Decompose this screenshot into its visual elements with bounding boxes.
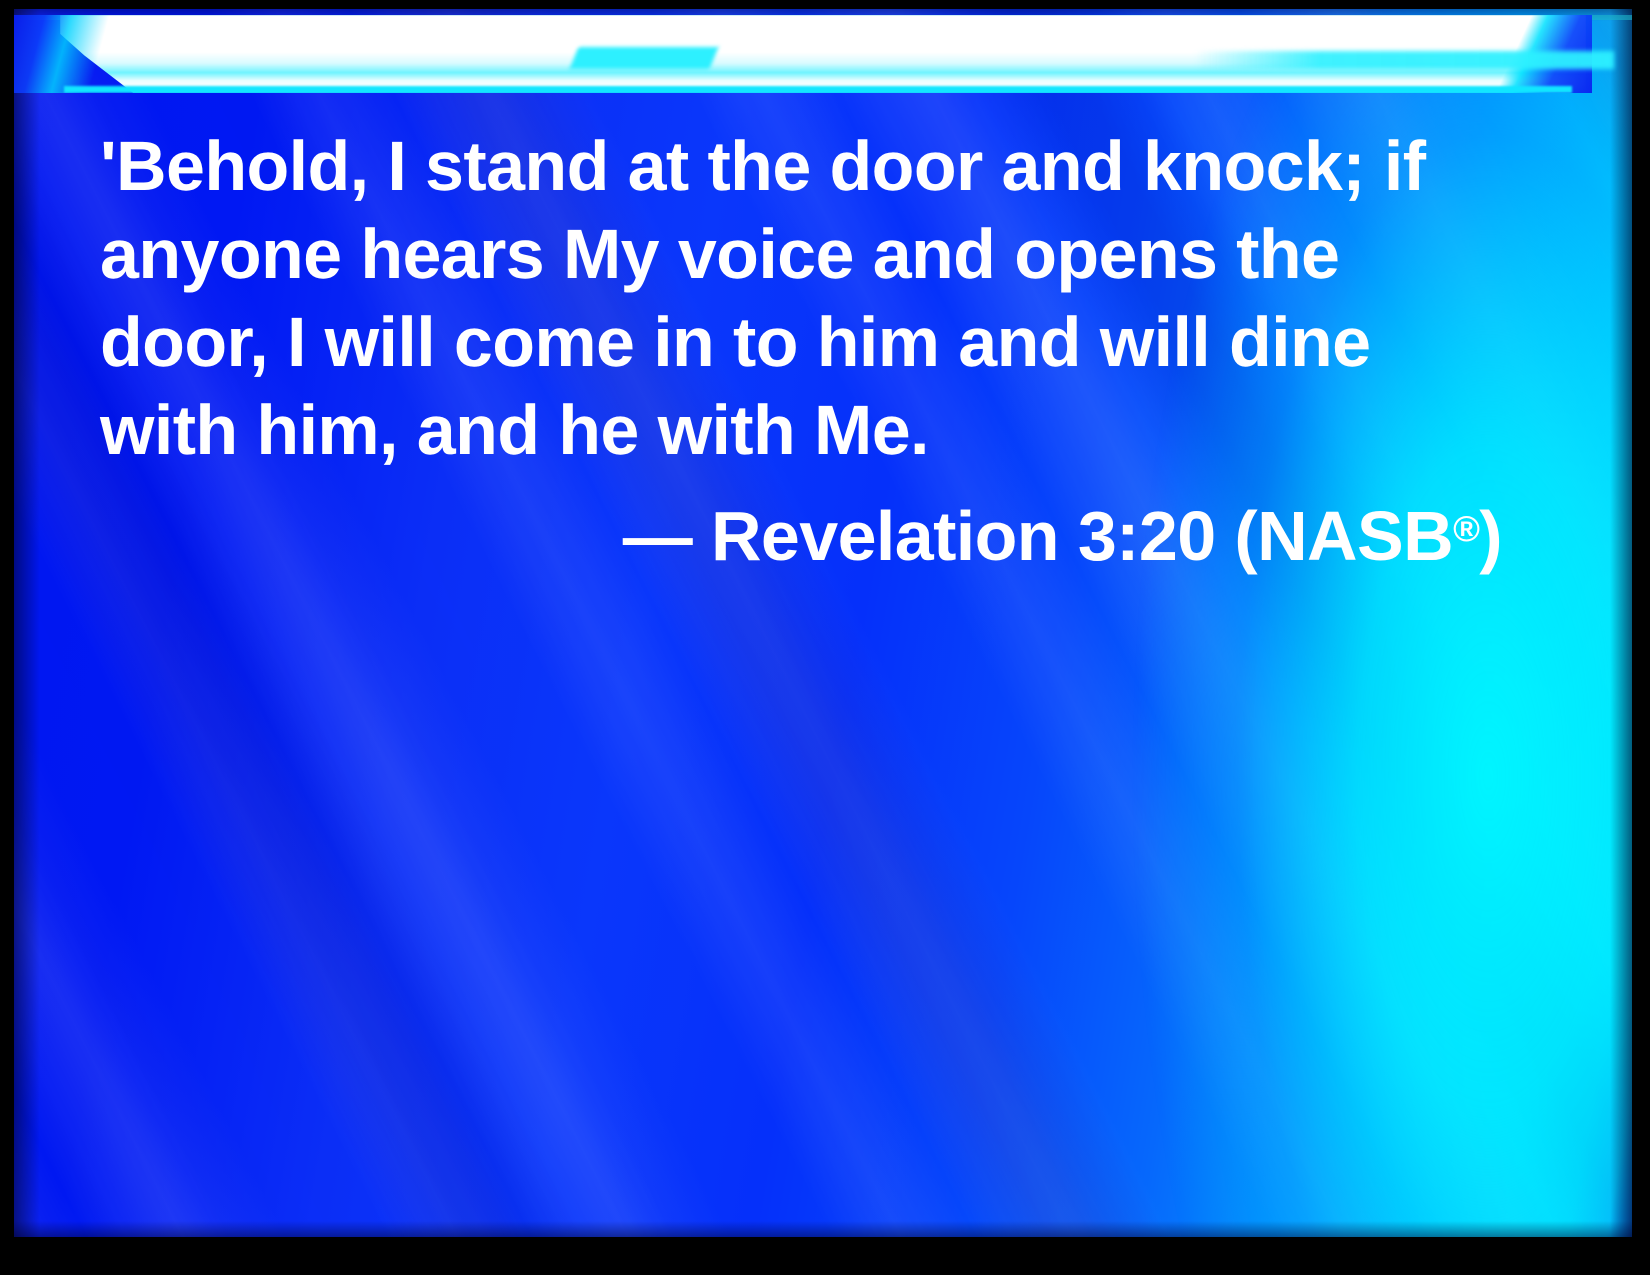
attribution-em-dash: — [623,497,692,575]
attribution-open-paren: ( [1234,497,1257,575]
attribution-translation: NASB [1257,497,1453,575]
banner-cyan-wisp-left [570,47,719,69]
banner-cyan-underline [64,86,1572,93]
slide-canvas: 'Behold, I stand at the door and knock; … [14,9,1632,1237]
verse-line-1: 'Behold, I stand at the door and knock; … [100,122,1520,210]
attribution-book: Revelation [711,497,1059,575]
attribution-chapter-verse: 3:20 [1078,497,1216,575]
verse-line-2: anyone hears My voice and opens the [100,210,1520,298]
top-banner [14,15,1632,93]
attribution-close-paren: ) [1479,497,1502,575]
verse-attribution: — Revelation 3:20 (NASB®) [100,474,1520,580]
verse-line-4: with him, and he with Me. [100,386,1520,474]
verse-line-3: door, I will come in to him and will din… [100,298,1520,386]
banner-left-taper [14,15,164,93]
verse-text-block: 'Behold, I stand at the door and knock; … [100,122,1520,580]
banner-cyan-wisp-right [1194,51,1614,69]
slide-frame: 'Behold, I stand at the door and knock; … [0,0,1650,1275]
registered-trademark-icon: ® [1453,508,1479,549]
